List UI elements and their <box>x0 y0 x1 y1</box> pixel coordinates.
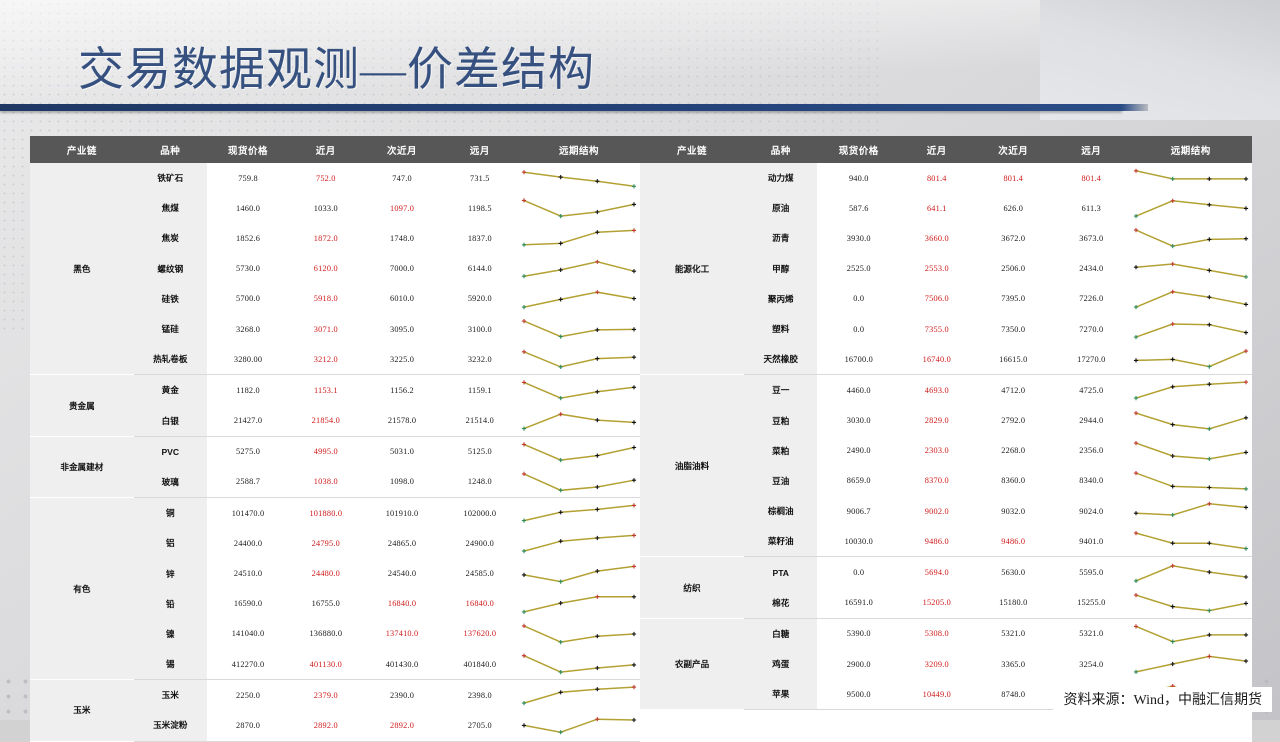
second-near-month-cell: 3225.0 <box>362 344 441 375</box>
far-month-cell: 2705.0 <box>442 710 518 741</box>
table-row: 玉米玉米2250.02379.02390.02398.0 <box>30 680 640 711</box>
forward-structure-cell <box>1130 284 1252 314</box>
symbol-cell: 锰硅 <box>134 314 207 344</box>
second-near-month-cell: 4712.0 <box>974 375 1054 406</box>
spot-price-cell: 2250.0 <box>207 680 289 711</box>
far-month-cell: 6144.0 <box>442 254 518 284</box>
forward-curve-sparkline <box>520 651 638 677</box>
far-month-cell: 9401.0 <box>1053 526 1130 557</box>
near-month-cell: 2892.0 <box>289 710 362 741</box>
spot-price-cell: 940.0 <box>817 163 900 193</box>
second-near-month-cell: 9032.0 <box>974 496 1054 526</box>
forward-curve-sparkline <box>1132 528 1250 554</box>
forward-curve-sparkline <box>520 225 638 251</box>
second-near-month-cell: 16840.0 <box>362 589 441 619</box>
forward-structure-cell <box>1130 375 1252 406</box>
spot-price-cell: 2900.0 <box>817 649 900 679</box>
forward-curve-sparkline <box>520 377 638 403</box>
forward-curve-sparkline <box>520 256 638 282</box>
forward-structure-cell <box>518 375 640 406</box>
near-month-cell: 5694.0 <box>900 557 973 588</box>
far-month-cell: 15255.0 <box>1053 588 1130 619</box>
far-month-cell: 801.4 <box>1053 163 1130 193</box>
left-table-wrapper: 产业链品种现货价格近月次近月远月远期结构 黑色铁矿石759.8752.0747.… <box>30 136 640 742</box>
forward-curve-sparkline <box>520 500 638 526</box>
near-month-cell: 401130.0 <box>289 649 362 680</box>
symbol-cell: 铅 <box>134 589 207 619</box>
second-near-month-cell: 7350.0 <box>974 314 1054 344</box>
spot-price-cell: 3280.00 <box>207 344 289 375</box>
far-month-cell: 17270.0 <box>1053 344 1130 375</box>
far-month-cell: 102000.0 <box>442 498 518 529</box>
second-near-month-cell: 7000.0 <box>362 254 441 284</box>
spot-price-cell: 2490.0 <box>817 436 900 466</box>
forward-structure-cell <box>1130 466 1252 496</box>
forward-curve-sparkline <box>1132 468 1250 494</box>
forward-structure-cell <box>518 528 640 558</box>
forward-curve-sparkline <box>520 346 638 372</box>
near-month-cell: 2303.0 <box>900 436 973 466</box>
symbol-cell: 棕榈油 <box>744 496 817 526</box>
near-month-cell: 7355.0 <box>900 314 973 344</box>
forward-curve-sparkline <box>520 561 638 587</box>
near-month-cell: 16740.0 <box>900 344 973 375</box>
forward-structure-cell <box>1130 526 1252 557</box>
near-month-cell: 3212.0 <box>289 344 362 375</box>
industry-chain-cell: 玉米 <box>30 680 134 741</box>
second-near-month-cell: 2390.0 <box>362 680 441 711</box>
column-header-0: 产业链 <box>640 136 744 163</box>
near-month-cell: 5308.0 <box>900 618 973 649</box>
forward-structure-cell <box>518 710 640 741</box>
forward-structure-cell <box>1130 649 1252 679</box>
table-header-row: 产业链品种现货价格近月次近月远月远期结构 <box>640 136 1252 163</box>
near-month-cell: 8370.0 <box>900 466 973 496</box>
second-near-month-cell: 626.0 <box>974 193 1054 223</box>
forward-structure-cell <box>518 467 640 498</box>
table-row: 有色铜101470.0101880.0101910.0102000.0 <box>30 498 640 529</box>
forward-curve-sparkline <box>1132 195 1250 221</box>
forward-curve-sparkline <box>1132 438 1250 464</box>
forward-curve-sparkline <box>1132 590 1250 616</box>
source-note: 资料来源：Wind，中融汇信期货 <box>1053 687 1272 712</box>
column-header-0: 产业链 <box>30 136 134 163</box>
symbol-cell: 豆粕 <box>744 406 817 436</box>
symbol-cell: 锌 <box>134 558 207 588</box>
column-header-3: 近月 <box>289 136 362 163</box>
forward-structure-cell <box>1130 496 1252 526</box>
forward-curve-sparkline <box>520 469 638 495</box>
forward-structure-cell <box>1130 557 1252 588</box>
spot-price-cell: 1182.0 <box>207 375 289 406</box>
symbol-cell: 甲醇 <box>744 254 817 284</box>
second-near-month-cell: 137410.0 <box>362 619 441 649</box>
near-month-cell: 7506.0 <box>900 284 973 314</box>
table-row: 纺织PTA0.05694.05630.05595.0 <box>640 557 1252 588</box>
near-month-cell: 4693.0 <box>900 375 973 406</box>
second-near-month-cell: 801.4 <box>974 163 1054 193</box>
spot-price-cell: 24400.0 <box>207 528 289 558</box>
industry-chain-cell: 能源化工 <box>640 163 744 375</box>
forward-structure-cell <box>518 619 640 649</box>
second-near-month-cell: 1156.2 <box>362 375 441 406</box>
spot-price-cell: 4460.0 <box>817 375 900 406</box>
near-month-cell: 1033.0 <box>289 193 362 223</box>
symbol-cell: 硅铁 <box>134 284 207 314</box>
symbol-cell: 热轧卷板 <box>134 344 207 375</box>
slide-canvas: 交易数据观测—价差结构 产业链品种现货价格近月次近月远月远期结构 黑色铁矿石75… <box>0 0 1280 720</box>
forward-structure-cell <box>518 163 640 193</box>
forward-structure-cell <box>518 498 640 529</box>
near-month-cell: 1872.0 <box>289 223 362 253</box>
symbol-cell: 镍 <box>134 619 207 649</box>
far-month-cell: 5125.0 <box>442 436 518 467</box>
table-row: 能源化工动力煤940.0801.4801.4801.4 <box>640 163 1252 193</box>
near-month-cell: 24795.0 <box>289 528 362 558</box>
spot-price-cell: 0.0 <box>817 314 900 344</box>
spot-price-cell: 2870.0 <box>207 710 289 741</box>
near-month-cell: 3660.0 <box>900 223 973 253</box>
second-near-month-cell: 5630.0 <box>974 557 1054 588</box>
symbol-cell: 玉米 <box>134 680 207 711</box>
table-row: 农副产品白糖5390.05308.05321.05321.0 <box>640 618 1252 649</box>
forward-structure-cell <box>1130 436 1252 466</box>
column-header-6: 远期结构 <box>518 136 640 163</box>
near-month-cell: 1038.0 <box>289 467 362 498</box>
forward-structure-cell <box>1130 618 1252 649</box>
symbol-cell: 棉花 <box>744 588 817 619</box>
second-near-month-cell: 401430.0 <box>362 649 441 680</box>
far-month-cell: 731.5 <box>442 163 518 193</box>
forward-structure-cell <box>518 193 640 223</box>
symbol-cell: 铁矿石 <box>134 163 207 193</box>
forward-structure-cell <box>518 223 640 253</box>
symbol-cell: 黄金 <box>134 375 207 406</box>
spot-price-cell: 5700.0 <box>207 284 289 314</box>
right-table-body: 能源化工动力煤940.0801.4801.4801.4原油587.6641.16… <box>640 163 1252 710</box>
symbol-cell: 焦煤 <box>134 193 207 223</box>
second-near-month-cell: 101910.0 <box>362 498 441 529</box>
column-header-4: 次近月 <box>362 136 441 163</box>
spot-price-cell: 5730.0 <box>207 254 289 284</box>
second-near-month-cell: 24865.0 <box>362 528 441 558</box>
far-month-cell: 3232.0 <box>442 344 518 375</box>
spot-price-cell: 587.6 <box>817 193 900 223</box>
table-row: 油脂油料豆一4460.04693.04712.04725.0 <box>640 375 1252 406</box>
symbol-cell: 动力煤 <box>744 163 817 193</box>
forward-structure-cell <box>518 406 640 437</box>
forward-structure-cell <box>1130 314 1252 344</box>
table-row: 非金属建材PVC5275.04995.05031.05125.0 <box>30 436 640 467</box>
near-month-cell: 10449.0 <box>900 679 973 710</box>
symbol-cell: 铜 <box>134 498 207 529</box>
far-month-cell: 21514.0 <box>442 406 518 437</box>
spot-price-cell: 5390.0 <box>817 618 900 649</box>
near-month-cell: 6120.0 <box>289 254 362 284</box>
column-header-4: 次近月 <box>974 136 1054 163</box>
symbol-cell: PTA <box>744 557 817 588</box>
forward-curve-sparkline <box>520 439 638 465</box>
page-title: 交易数据观测—价差结构 <box>78 33 595 99</box>
far-month-cell: 7270.0 <box>1053 314 1130 344</box>
near-month-cell: 2553.0 <box>900 254 973 284</box>
forward-structure-cell <box>518 254 640 284</box>
header-accent-rule <box>0 104 1122 111</box>
spot-price-cell: 21427.0 <box>207 406 289 437</box>
column-header-5: 远月 <box>1053 136 1130 163</box>
forward-structure-cell <box>518 680 640 711</box>
near-month-cell: 15205.0 <box>900 588 973 619</box>
symbol-cell: 玻璃 <box>134 467 207 498</box>
far-month-cell: 5321.0 <box>1053 618 1130 649</box>
spot-price-cell: 8659.0 <box>817 466 900 496</box>
far-month-cell: 7226.0 <box>1053 284 1130 314</box>
forward-curve-sparkline <box>1132 256 1250 282</box>
second-near-month-cell: 1097.0 <box>362 193 441 223</box>
second-near-month-cell: 5031.0 <box>362 436 441 467</box>
industry-chain-cell: 贵金属 <box>30 375 134 436</box>
far-month-cell: 8340.0 <box>1053 466 1130 496</box>
far-month-cell: 2944.0 <box>1053 406 1130 436</box>
spot-price-cell: 2588.7 <box>207 467 289 498</box>
far-month-cell: 1159.1 <box>442 375 518 406</box>
forward-curve-sparkline <box>520 621 638 647</box>
symbol-cell: 白糖 <box>744 618 817 649</box>
symbol-cell: 天然橡胶 <box>744 344 817 375</box>
near-month-cell: 2829.0 <box>900 406 973 436</box>
spot-price-cell: 0.0 <box>817 284 900 314</box>
industry-chain-cell: 非金属建材 <box>30 436 134 497</box>
far-month-cell: 1198.5 <box>442 193 518 223</box>
forward-curve-sparkline <box>520 712 638 738</box>
symbol-cell: 苹果 <box>744 679 817 710</box>
second-near-month-cell: 16615.0 <box>974 344 1054 375</box>
forward-structure-cell <box>1130 223 1252 253</box>
second-near-month-cell: 747.0 <box>362 163 441 193</box>
symbol-cell: 鸡蛋 <box>744 649 817 679</box>
second-near-month-cell: 6010.0 <box>362 284 441 314</box>
symbol-cell: 螺纹钢 <box>134 254 207 284</box>
spot-price-cell: 412270.0 <box>207 649 289 680</box>
forward-curve-sparkline <box>1132 286 1250 312</box>
symbol-cell: 聚丙烯 <box>744 284 817 314</box>
industry-chain-cell: 有色 <box>30 498 134 680</box>
symbol-cell: 铝 <box>134 528 207 558</box>
forward-curve-sparkline <box>1132 377 1250 403</box>
forward-structure-cell <box>518 558 640 588</box>
spot-price-cell: 16700.0 <box>817 344 900 375</box>
spot-price-cell: 3930.0 <box>817 223 900 253</box>
forward-structure-cell <box>1130 344 1252 375</box>
second-near-month-cell: 5321.0 <box>974 618 1054 649</box>
forward-curve-sparkline <box>520 195 638 221</box>
spot-price-cell: 3268.0 <box>207 314 289 344</box>
far-month-cell: 16840.0 <box>442 589 518 619</box>
far-month-cell: 3100.0 <box>442 314 518 344</box>
near-month-cell: 21854.0 <box>289 406 362 437</box>
symbol-cell: 焦炭 <box>134 223 207 253</box>
spot-price-cell: 9006.7 <box>817 496 900 526</box>
forward-curve-sparkline <box>1132 651 1250 677</box>
second-near-month-cell: 1098.0 <box>362 467 441 498</box>
forward-structure-cell <box>1130 588 1252 619</box>
header-corner-wedge <box>1040 0 1280 120</box>
forward-curve-sparkline <box>1132 560 1250 586</box>
right-price-table: 产业链品种现货价格近月次近月远月远期结构 能源化工动力煤940.0801.480… <box>640 136 1252 710</box>
column-header-3: 近月 <box>900 136 973 163</box>
near-month-cell: 641.1 <box>900 193 973 223</box>
second-near-month-cell: 2792.0 <box>974 406 1054 436</box>
forward-curve-sparkline <box>1132 225 1250 251</box>
near-month-cell: 9486.0 <box>900 526 973 557</box>
symbol-cell: 菜籽油 <box>744 526 817 557</box>
near-month-cell: 101880.0 <box>289 498 362 529</box>
far-month-cell: 1837.0 <box>442 223 518 253</box>
spot-price-cell: 141040.0 <box>207 619 289 649</box>
spot-price-cell: 2525.0 <box>817 254 900 284</box>
forward-curve-sparkline <box>1132 316 1250 342</box>
forward-structure-cell <box>518 436 640 467</box>
second-near-month-cell: 2892.0 <box>362 710 441 741</box>
symbol-cell: 菜粕 <box>744 436 817 466</box>
second-near-month-cell: 3095.0 <box>362 314 441 344</box>
spot-price-cell: 9500.0 <box>817 679 900 710</box>
column-header-6: 远期结构 <box>1130 136 1252 163</box>
table-row: 贵金属黄金1182.01153.11156.21159.1 <box>30 375 640 406</box>
column-header-1: 品种 <box>744 136 817 163</box>
industry-chain-cell: 纺织 <box>640 557 744 618</box>
near-month-cell: 24480.0 <box>289 558 362 588</box>
symbol-cell: 玉米淀粉 <box>134 710 207 741</box>
forward-curve-sparkline <box>1132 621 1250 647</box>
second-near-month-cell: 21578.0 <box>362 406 441 437</box>
forward-structure-cell <box>518 314 640 344</box>
symbol-cell: 锡 <box>134 649 207 680</box>
spot-price-cell: 3030.0 <box>817 406 900 436</box>
column-header-1: 品种 <box>134 136 207 163</box>
second-near-month-cell: 15180.0 <box>974 588 1054 619</box>
near-month-cell: 3209.0 <box>900 649 973 679</box>
far-month-cell: 5920.0 <box>442 284 518 314</box>
far-month-cell: 5595.0 <box>1053 557 1130 588</box>
price-structure-board: 产业链品种现货价格近月次近月远月远期结构 黑色铁矿石759.8752.0747.… <box>30 136 1252 742</box>
symbol-cell: 豆一 <box>744 375 817 406</box>
near-month-cell: 3071.0 <box>289 314 362 344</box>
spot-price-cell: 759.8 <box>207 163 289 193</box>
far-month-cell: 611.3 <box>1053 193 1130 223</box>
forward-curve-sparkline <box>520 316 638 342</box>
column-header-2: 现货价格 <box>817 136 900 163</box>
industry-chain-cell: 农副产品 <box>640 618 744 710</box>
column-header-5: 远月 <box>442 136 518 163</box>
spot-price-cell: 101470.0 <box>207 498 289 529</box>
far-month-cell: 3254.0 <box>1053 649 1130 679</box>
column-header-2: 现货价格 <box>207 136 289 163</box>
spot-price-cell: 1460.0 <box>207 193 289 223</box>
second-near-month-cell: 9486.0 <box>974 526 1054 557</box>
far-month-cell: 2356.0 <box>1053 436 1130 466</box>
spot-price-cell: 10030.0 <box>817 526 900 557</box>
forward-curve-sparkline <box>520 165 638 191</box>
left-price-table: 产业链品种现货价格近月次近月远月远期结构 黑色铁矿石759.8752.0747.… <box>30 136 640 742</box>
forward-curve-sparkline <box>520 286 638 312</box>
far-month-cell: 137620.0 <box>442 619 518 649</box>
forward-curve-sparkline <box>1132 165 1250 191</box>
symbol-cell: 豆油 <box>744 466 817 496</box>
far-month-cell: 9024.0 <box>1053 496 1130 526</box>
far-month-cell: 3673.0 <box>1053 223 1130 253</box>
industry-chain-cell: 油脂油料 <box>640 375 744 557</box>
forward-structure-cell <box>518 589 640 619</box>
forward-curve-sparkline <box>520 408 638 434</box>
far-month-cell: 1248.0 <box>442 467 518 498</box>
forward-curve-sparkline <box>1132 498 1250 524</box>
symbol-cell: PVC <box>134 436 207 467</box>
near-month-cell: 2379.0 <box>289 680 362 711</box>
far-month-cell: 2434.0 <box>1053 254 1130 284</box>
second-near-month-cell: 2506.0 <box>974 254 1054 284</box>
second-near-month-cell: 7395.0 <box>974 284 1054 314</box>
second-near-month-cell: 24540.0 <box>362 558 441 588</box>
near-month-cell: 752.0 <box>289 163 362 193</box>
near-month-cell: 136880.0 <box>289 619 362 649</box>
near-month-cell: 4995.0 <box>289 436 362 467</box>
near-month-cell: 801.4 <box>900 163 973 193</box>
forward-structure-cell <box>1130 193 1252 223</box>
far-month-cell: 401840.0 <box>442 649 518 680</box>
symbol-cell: 塑料 <box>744 314 817 344</box>
near-month-cell: 1153.1 <box>289 375 362 406</box>
near-month-cell: 5918.0 <box>289 284 362 314</box>
forward-curve-sparkline <box>1132 408 1250 434</box>
symbol-cell: 沥青 <box>744 223 817 253</box>
symbol-cell: 原油 <box>744 193 817 223</box>
spot-price-cell: 16590.0 <box>207 589 289 619</box>
second-near-month-cell: 2268.0 <box>974 436 1054 466</box>
forward-curve-sparkline <box>520 591 638 617</box>
second-near-month-cell: 8748.0 <box>974 679 1054 710</box>
industry-chain-cell: 黑色 <box>30 163 134 375</box>
far-month-cell: 24900.0 <box>442 528 518 558</box>
forward-structure-cell <box>1130 406 1252 436</box>
spot-price-cell: 0.0 <box>817 557 900 588</box>
table-row: 黑色铁矿石759.8752.0747.0731.5 <box>30 163 640 193</box>
forward-structure-cell <box>518 344 640 375</box>
second-near-month-cell: 3365.0 <box>974 649 1054 679</box>
forward-structure-cell <box>1130 163 1252 193</box>
forward-structure-cell <box>518 284 640 314</box>
forward-structure-cell <box>1130 254 1252 284</box>
near-month-cell: 16755.0 <box>289 589 362 619</box>
far-month-cell: 24585.0 <box>442 558 518 588</box>
spot-price-cell: 1852.6 <box>207 223 289 253</box>
spot-price-cell: 24510.0 <box>207 558 289 588</box>
forward-curve-sparkline <box>520 530 638 556</box>
left-table-body: 黑色铁矿石759.8752.0747.0731.5焦煤1460.01033.01… <box>30 163 640 741</box>
second-near-month-cell: 8360.0 <box>974 466 1054 496</box>
symbol-cell: 白银 <box>134 406 207 437</box>
table-header-row: 产业链品种现货价格近月次近月远月远期结构 <box>30 136 640 163</box>
second-near-month-cell: 3672.0 <box>974 223 1054 253</box>
far-month-cell: 4725.0 <box>1053 375 1130 406</box>
far-month-cell: 2398.0 <box>442 680 518 711</box>
forward-curve-sparkline <box>520 682 638 708</box>
right-table-wrapper: 产业链品种现货价格近月次近月远月远期结构 能源化工动力煤940.0801.480… <box>640 136 1252 742</box>
second-near-month-cell: 1748.0 <box>362 223 441 253</box>
spot-price-cell: 5275.0 <box>207 436 289 467</box>
spot-price-cell: 16591.0 <box>817 588 900 619</box>
forward-structure-cell <box>518 649 640 680</box>
